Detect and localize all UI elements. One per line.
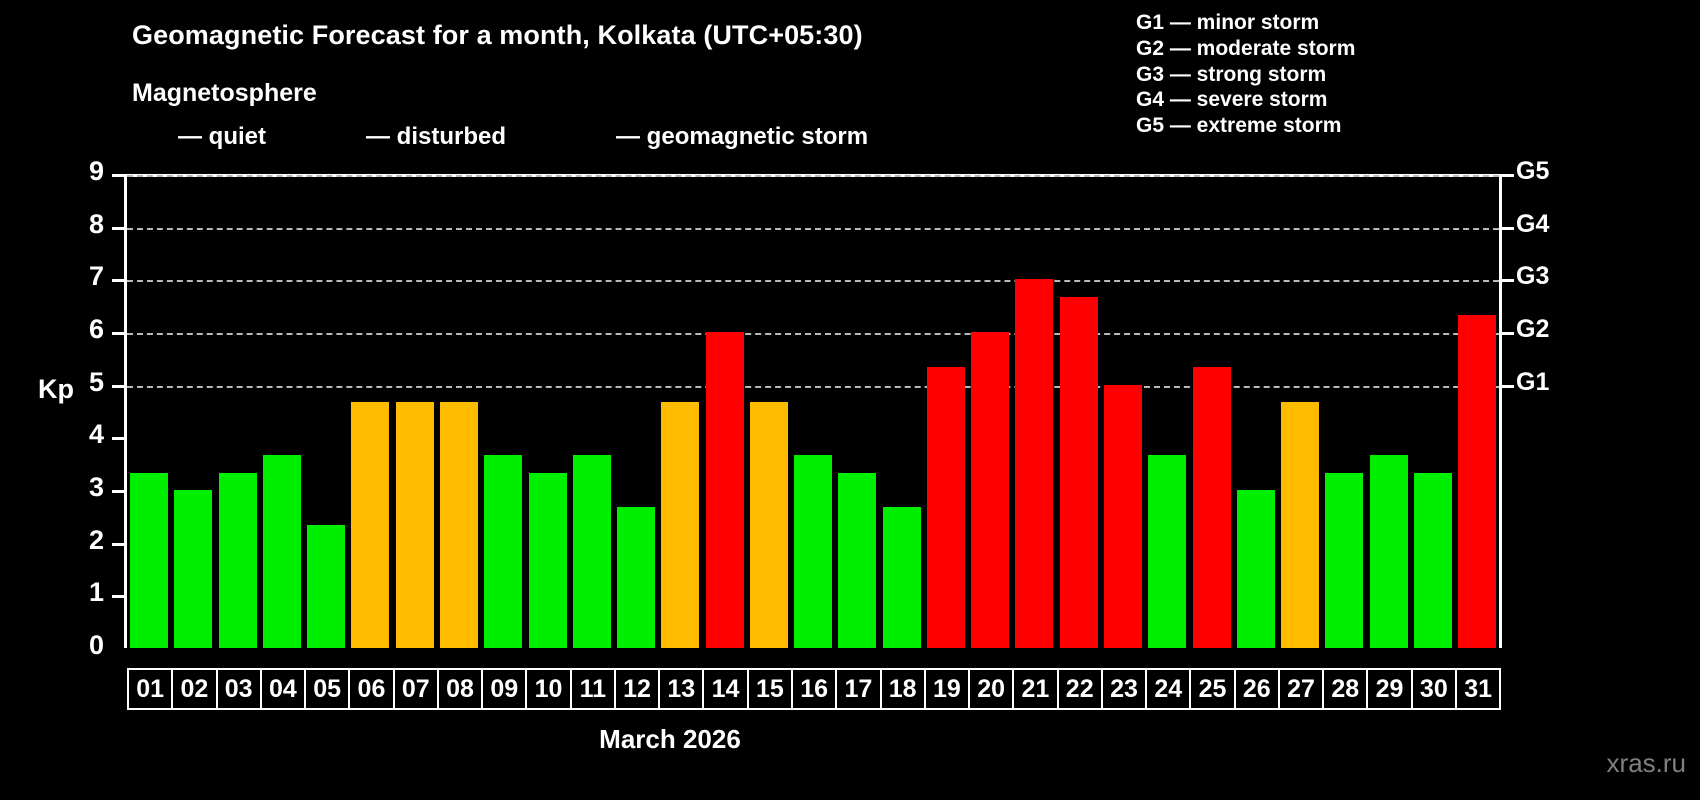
day-label[interactable]: 29 xyxy=(1366,668,1412,710)
day-label[interactable]: 23 xyxy=(1101,668,1147,710)
bar[interactable] xyxy=(263,455,301,648)
day-label[interactable]: 31 xyxy=(1455,668,1501,710)
y-axis-tick xyxy=(112,543,125,546)
day-label[interactable]: 15 xyxy=(747,668,793,710)
bar-slot[interactable] xyxy=(968,174,1012,648)
bar[interactable] xyxy=(1237,490,1275,648)
y-axis-tick-label: 9 xyxy=(58,156,104,187)
g-axis-tick-label: G3 xyxy=(1516,262,1549,291)
day-label[interactable]: 12 xyxy=(614,668,660,710)
bar-slot[interactable] xyxy=(1411,174,1455,648)
watermark: xras.ru xyxy=(1607,748,1686,779)
bar-slot[interactable] xyxy=(791,174,835,648)
day-label[interactable]: 09 xyxy=(481,668,527,710)
bar[interactable] xyxy=(351,402,389,648)
bar[interactable] xyxy=(573,455,611,648)
y-axis-tick-label: 1 xyxy=(58,577,104,608)
legend-item-disturbed: — disturbed xyxy=(320,122,506,152)
bar[interactable] xyxy=(1193,367,1231,648)
g-axis-tick xyxy=(1500,385,1514,388)
day-label[interactable]: 18 xyxy=(880,668,926,710)
day-label[interactable]: 25 xyxy=(1189,668,1235,710)
bar-slot[interactable] xyxy=(658,174,702,648)
x-axis-caption: March 2026 xyxy=(0,724,1340,755)
bar-slot[interactable] xyxy=(570,174,614,648)
day-label[interactable]: 02 xyxy=(171,668,217,710)
day-label[interactable]: 07 xyxy=(393,668,439,710)
red-swatch-icon xyxy=(570,122,604,152)
y-axis-tick-label: 2 xyxy=(58,525,104,556)
y-axis-tick xyxy=(112,437,125,440)
bar[interactable] xyxy=(617,507,655,648)
day-label[interactable]: 27 xyxy=(1278,668,1324,710)
bar[interactable] xyxy=(838,473,876,648)
day-label[interactable]: 21 xyxy=(1012,668,1058,710)
bar-slot[interactable] xyxy=(1057,174,1101,648)
bar-slot[interactable] xyxy=(525,174,569,648)
g-axis-tick-label: G1 xyxy=(1516,368,1549,397)
day-label[interactable]: 06 xyxy=(348,668,394,710)
y-axis-tick-label: 6 xyxy=(58,314,104,345)
g-scale-line: G1 — minor storm xyxy=(1136,10,1355,36)
bar-slot[interactable] xyxy=(924,174,968,648)
bar[interactable] xyxy=(661,402,699,648)
y-axis-tick xyxy=(112,595,125,598)
legend-label-storm: — geomagnetic storm xyxy=(616,123,868,151)
bar-slot[interactable] xyxy=(1322,174,1366,648)
bar[interactable] xyxy=(794,455,832,648)
day-label[interactable]: 30 xyxy=(1411,668,1457,710)
bar-slot[interactable] xyxy=(1189,174,1233,648)
bar-slot[interactable] xyxy=(880,174,924,648)
bar[interactable] xyxy=(1325,473,1363,648)
g-axis-tick xyxy=(1500,227,1514,230)
magnetosphere-legend: — quiet — disturbed — geomagnetic storm xyxy=(132,122,868,152)
bar-slot[interactable] xyxy=(1278,174,1322,648)
g-scale-legend: G1 — minor storm G2 — moderate storm G3 … xyxy=(1136,10,1355,139)
orange-swatch-icon xyxy=(320,122,354,152)
day-label[interactable]: 04 xyxy=(260,668,306,710)
bar-slot[interactable] xyxy=(1366,174,1410,648)
bar-slot[interactable] xyxy=(1012,174,1056,648)
bar[interactable] xyxy=(440,402,478,648)
bar[interactable] xyxy=(1015,279,1053,648)
day-label[interactable]: 17 xyxy=(835,668,881,710)
legend-label-disturbed: — disturbed xyxy=(366,123,506,151)
bar-slot[interactable] xyxy=(393,174,437,648)
bar[interactable] xyxy=(1281,402,1319,648)
g-axis-tick-label: G2 xyxy=(1516,315,1549,344)
bar-slot[interactable] xyxy=(260,174,304,648)
y-axis-tick-label: 4 xyxy=(58,419,104,450)
geomagnetic-forecast-chart: Geomagnetic Forecast for a month, Kolkat… xyxy=(0,0,1700,800)
green-swatch-icon xyxy=(132,122,166,152)
g-scale-line: G3 — strong storm xyxy=(1136,62,1355,88)
bar[interactable] xyxy=(883,507,921,648)
bar-slot[interactable] xyxy=(1455,174,1499,648)
bar-slot[interactable] xyxy=(1234,174,1278,648)
bar-slot[interactable] xyxy=(835,174,879,648)
bar[interactable] xyxy=(1458,315,1496,648)
day-label[interactable]: 26 xyxy=(1234,668,1280,710)
bar[interactable] xyxy=(1370,455,1408,648)
bar-slot[interactable] xyxy=(348,174,392,648)
g-scale-line: G5 — extreme storm xyxy=(1136,113,1355,139)
y-axis-tick-label: 5 xyxy=(58,367,104,398)
day-label[interactable]: 10 xyxy=(525,668,571,710)
magnetosphere-label: Magnetosphere xyxy=(132,79,317,108)
bar[interactable] xyxy=(219,473,257,648)
y-axis-tick xyxy=(112,332,125,335)
day-label[interactable]: 22 xyxy=(1057,668,1103,710)
bar[interactable] xyxy=(1060,297,1098,648)
g-axis-tick xyxy=(1500,174,1514,177)
day-label[interactable]: 28 xyxy=(1322,668,1368,710)
g-axis-tick xyxy=(1500,279,1514,282)
y-axis-tick xyxy=(112,279,125,282)
day-label[interactable]: 01 xyxy=(127,668,173,710)
y-axis-tick xyxy=(112,490,125,493)
day-label[interactable]: 20 xyxy=(968,668,1014,710)
bar[interactable] xyxy=(706,332,744,648)
day-label[interactable]: 03 xyxy=(216,668,262,710)
bar-slot[interactable] xyxy=(747,174,791,648)
legend-item-quiet: — quiet xyxy=(132,122,266,152)
day-label[interactable]: 13 xyxy=(658,668,704,710)
g-axis-tick-label: G5 xyxy=(1516,157,1549,186)
bar-series xyxy=(127,174,1499,648)
y-axis-tick-label: 3 xyxy=(58,472,104,503)
page-title: Geomagnetic Forecast for a month, Kolkat… xyxy=(132,20,863,51)
g-scale-line: G2 — moderate storm xyxy=(1136,36,1355,62)
bar-slot[interactable] xyxy=(1101,174,1145,648)
bar-slot[interactable] xyxy=(437,174,481,648)
bar[interactable] xyxy=(130,473,168,648)
g-axis-tick xyxy=(1500,332,1514,335)
day-label[interactable]: 05 xyxy=(304,668,350,710)
bar[interactable] xyxy=(484,455,522,648)
bar[interactable] xyxy=(174,490,212,648)
y-axis-tick-label: 8 xyxy=(58,209,104,240)
bar-slot[interactable] xyxy=(481,174,525,648)
legend-label-quiet: — quiet xyxy=(178,123,266,151)
bar[interactable] xyxy=(1104,385,1142,648)
bar[interactable] xyxy=(971,332,1009,648)
day-label[interactable]: 24 xyxy=(1145,668,1191,710)
bar[interactable] xyxy=(307,525,345,648)
day-label[interactable]: 16 xyxy=(791,668,837,710)
bar-slot[interactable] xyxy=(304,174,348,648)
day-label[interactable]: 19 xyxy=(924,668,970,710)
bar-slot[interactable] xyxy=(702,174,746,648)
y-axis-tick xyxy=(112,174,125,177)
bar-slot[interactable] xyxy=(171,174,215,648)
y-axis-tick xyxy=(112,385,125,388)
g-axis-tick-label: G4 xyxy=(1516,210,1549,239)
bar[interactable] xyxy=(529,473,567,648)
g-scale-line: G4 — severe storm xyxy=(1136,87,1355,113)
y-axis-tick-label: 0 xyxy=(58,630,104,661)
y-axis-tick xyxy=(112,227,125,230)
bar[interactable] xyxy=(1148,455,1186,648)
day-label[interactable]: 14 xyxy=(702,668,748,710)
bar[interactable] xyxy=(1414,473,1452,648)
day-label[interactable]: 08 xyxy=(437,668,483,710)
bar[interactable] xyxy=(750,402,788,648)
bar-slot[interactable] xyxy=(216,174,260,648)
y-axis-tick-label: 7 xyxy=(58,261,104,292)
bar-slot[interactable] xyxy=(127,174,171,648)
bar-slot[interactable] xyxy=(1145,174,1189,648)
legend-item-storm: — geomagnetic storm xyxy=(570,122,868,152)
bar[interactable] xyxy=(396,402,434,648)
x-axis-day-labels: 0102030405060708091011121314151617181920… xyxy=(127,668,1499,710)
day-label[interactable]: 11 xyxy=(570,668,616,710)
bar[interactable] xyxy=(927,367,965,648)
bar-slot[interactable] xyxy=(614,174,658,648)
